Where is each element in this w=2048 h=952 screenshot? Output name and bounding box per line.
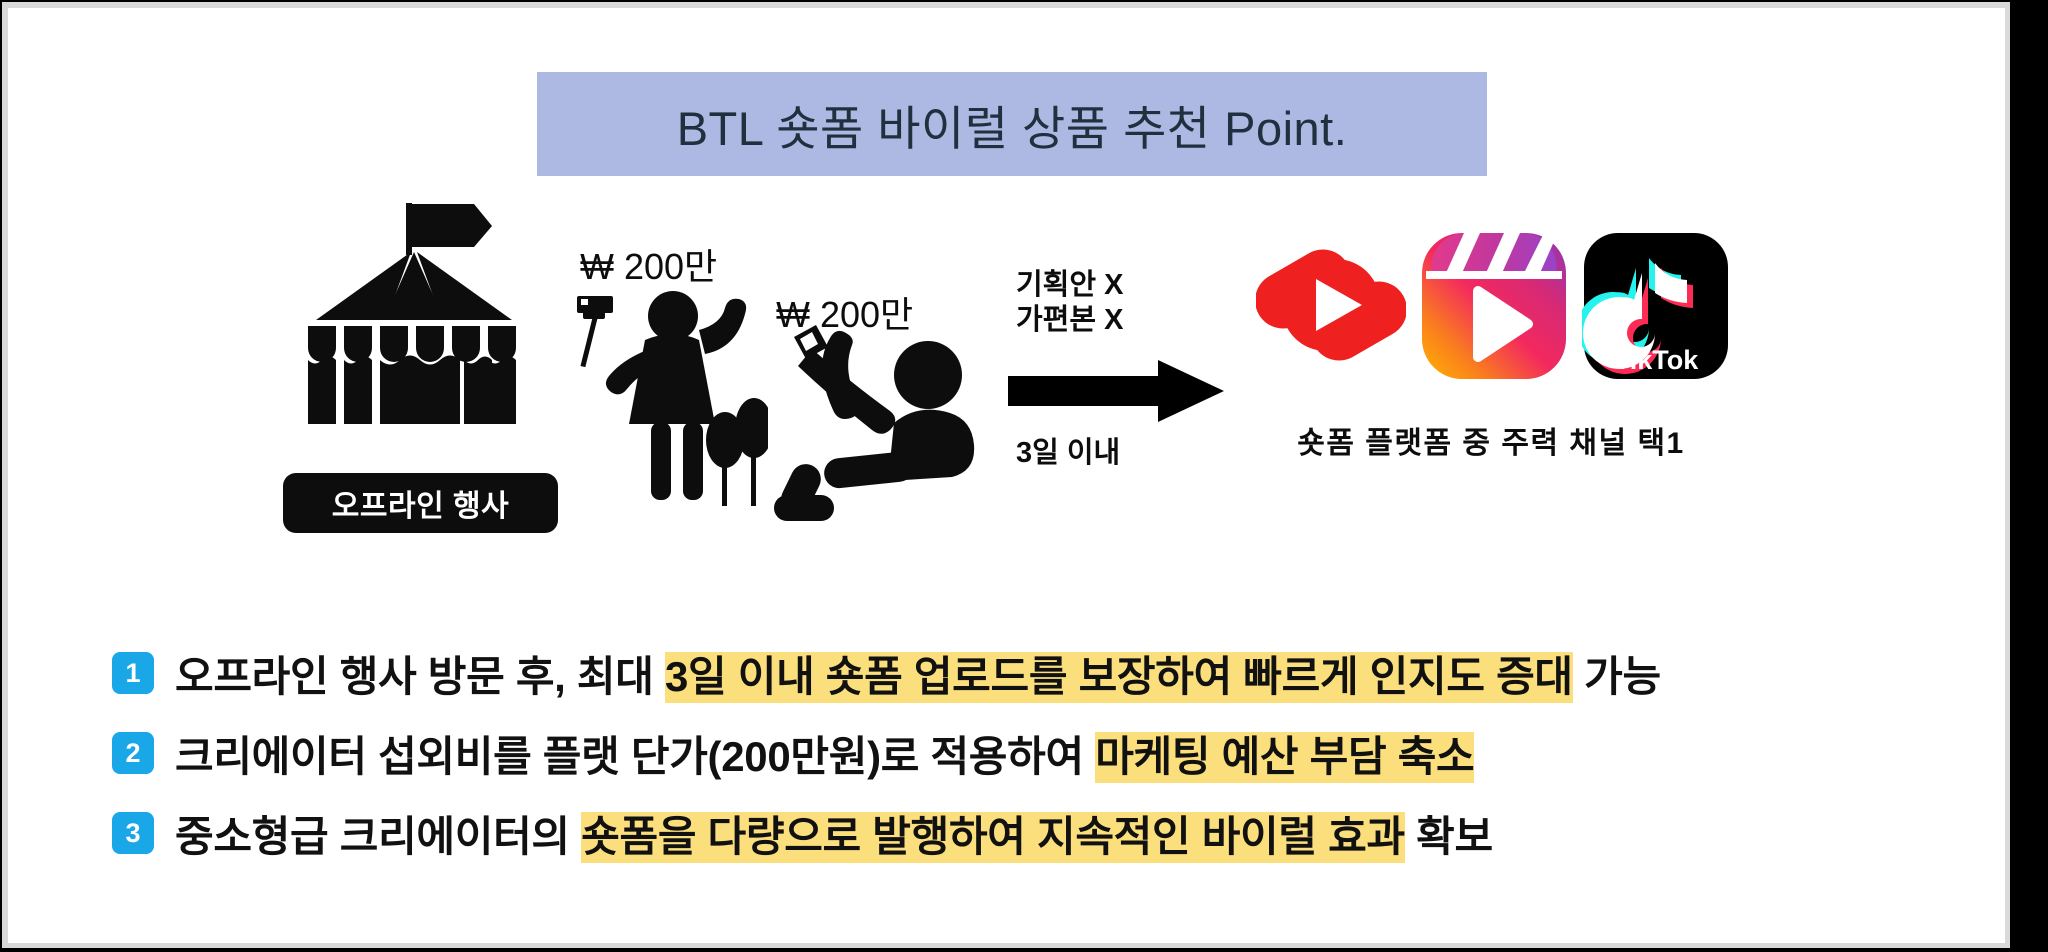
tiktok-wordmark: TikTok [1614,345,1700,375]
platform-logo-row: TikTok [1256,223,1730,393]
slide-frame: BTL 숏폼 바이럴 상품 추천 Point. [2,2,2010,948]
bullet-text-pre: 중소형급 크리에이터의 [175,813,581,860]
bullet-text: 크리에이터 섭외비를 플랫 단가(200만원)로 적용하여 마케팅 예산 부담 … [175,723,1474,784]
slide-title: BTL 숏폼 바이럴 상품 추천 Point. [677,90,1348,159]
offline-event-group: 오프라인 행사 [278,188,568,548]
platform-caption: 숏폼 플랫폼 중 주력 채널 택1 [1256,418,1726,462]
slide-canvas: BTL 숏폼 바이럴 상품 추천 Point. [8,8,2005,943]
instagram-reels-icon [1418,227,1570,385]
bullet-text-highlight: 마케팅 예산 부담 축소 [1095,732,1474,783]
creator-phone-filming-icon [768,313,983,528]
bullet-text: 중소형급 크리에이터의 숏폼을 다량으로 발행하여 지속적인 바이럴 효과 확보 [175,803,1493,864]
right-arrow-icon [1008,360,1224,422]
slide-root: BTL 숏폼 바이럴 상품 추천 Point. [0,0,2048,952]
bullet-text-post: 확보 [1405,813,1493,860]
bullet-text-pre: 오프라인 행사 방문 후, 최대 [175,653,665,700]
creator-selfie-stick-icon [573,278,768,528]
bullet-text-post: 가능 [1573,653,1661,700]
youtube-shorts-logo[interactable] [1256,223,1406,393]
list-item: 3 중소형급 크리에이터의 숏폼을 다량으로 발행하여 지속적인 바이럴 효과 … [112,793,1942,873]
tiktok-logo[interactable]: TikTok [1582,231,1730,386]
bullet-text-highlight: 3일 이내 숏폼 업로드를 보장하여 빠르게 인지도 증대 [665,652,1573,703]
arrow-label-plan: 기획안 X [1016,268,1123,303]
bullet-number-badge: 2 [112,732,154,774]
list-item: 2 크리에이터 섭외비를 플랫 단가(200만원)로 적용하여 마케팅 예산 부… [112,713,1942,793]
bullet-text-highlight: 숏폼을 다량으로 발행하여 지속적인 바이럴 효과 [581,812,1405,863]
instagram-reels-logo[interactable] [1418,227,1570,390]
arrow-label-lead-time: 3일 이내 [1016,436,1120,471]
arrow-label-draft: 가편본 X [1016,303,1123,338]
platform-group: TikTok 숏폼 플랫폼 중 주력 채널 택1 [1256,223,1726,468]
bullet-number-badge: 1 [112,652,154,694]
youtube-shorts-icon [1256,223,1406,388]
arrow-labels-above: 기획안 X 가편본 X [1016,268,1123,339]
slide-title-band: BTL 숏폼 바이럴 상품 추천 Point. [537,72,1487,176]
bullet-text-pre: 크리에이터 섭외비를 플랫 단가(200만원)로 적용하여 [175,733,1095,780]
offline-event-pill: 오프라인 행사 [283,473,558,533]
bullet-number-badge: 3 [112,812,154,854]
circus-tent-icon [278,188,568,478]
bullet-list: 1 오프라인 행사 방문 후, 최대 3일 이내 숏폼 업로드를 보장하여 빠르… [112,633,1942,873]
diagram-area: 오프라인 행사 ₩ 200만 [8,183,2005,558]
tiktok-icon: TikTok [1582,231,1730,381]
list-item: 1 오프라인 행사 방문 후, 최대 3일 이내 숏폼 업로드를 보장하여 빠르… [112,633,1942,713]
offline-event-label: 오프라인 행사 [332,481,509,525]
arrow-group: 기획안 X 가편본 X 3일 이내 [1008,268,1238,508]
bullet-text: 오프라인 행사 방문 후, 최대 3일 이내 숏폼 업로드를 보장하여 빠르게 … [175,643,1661,704]
